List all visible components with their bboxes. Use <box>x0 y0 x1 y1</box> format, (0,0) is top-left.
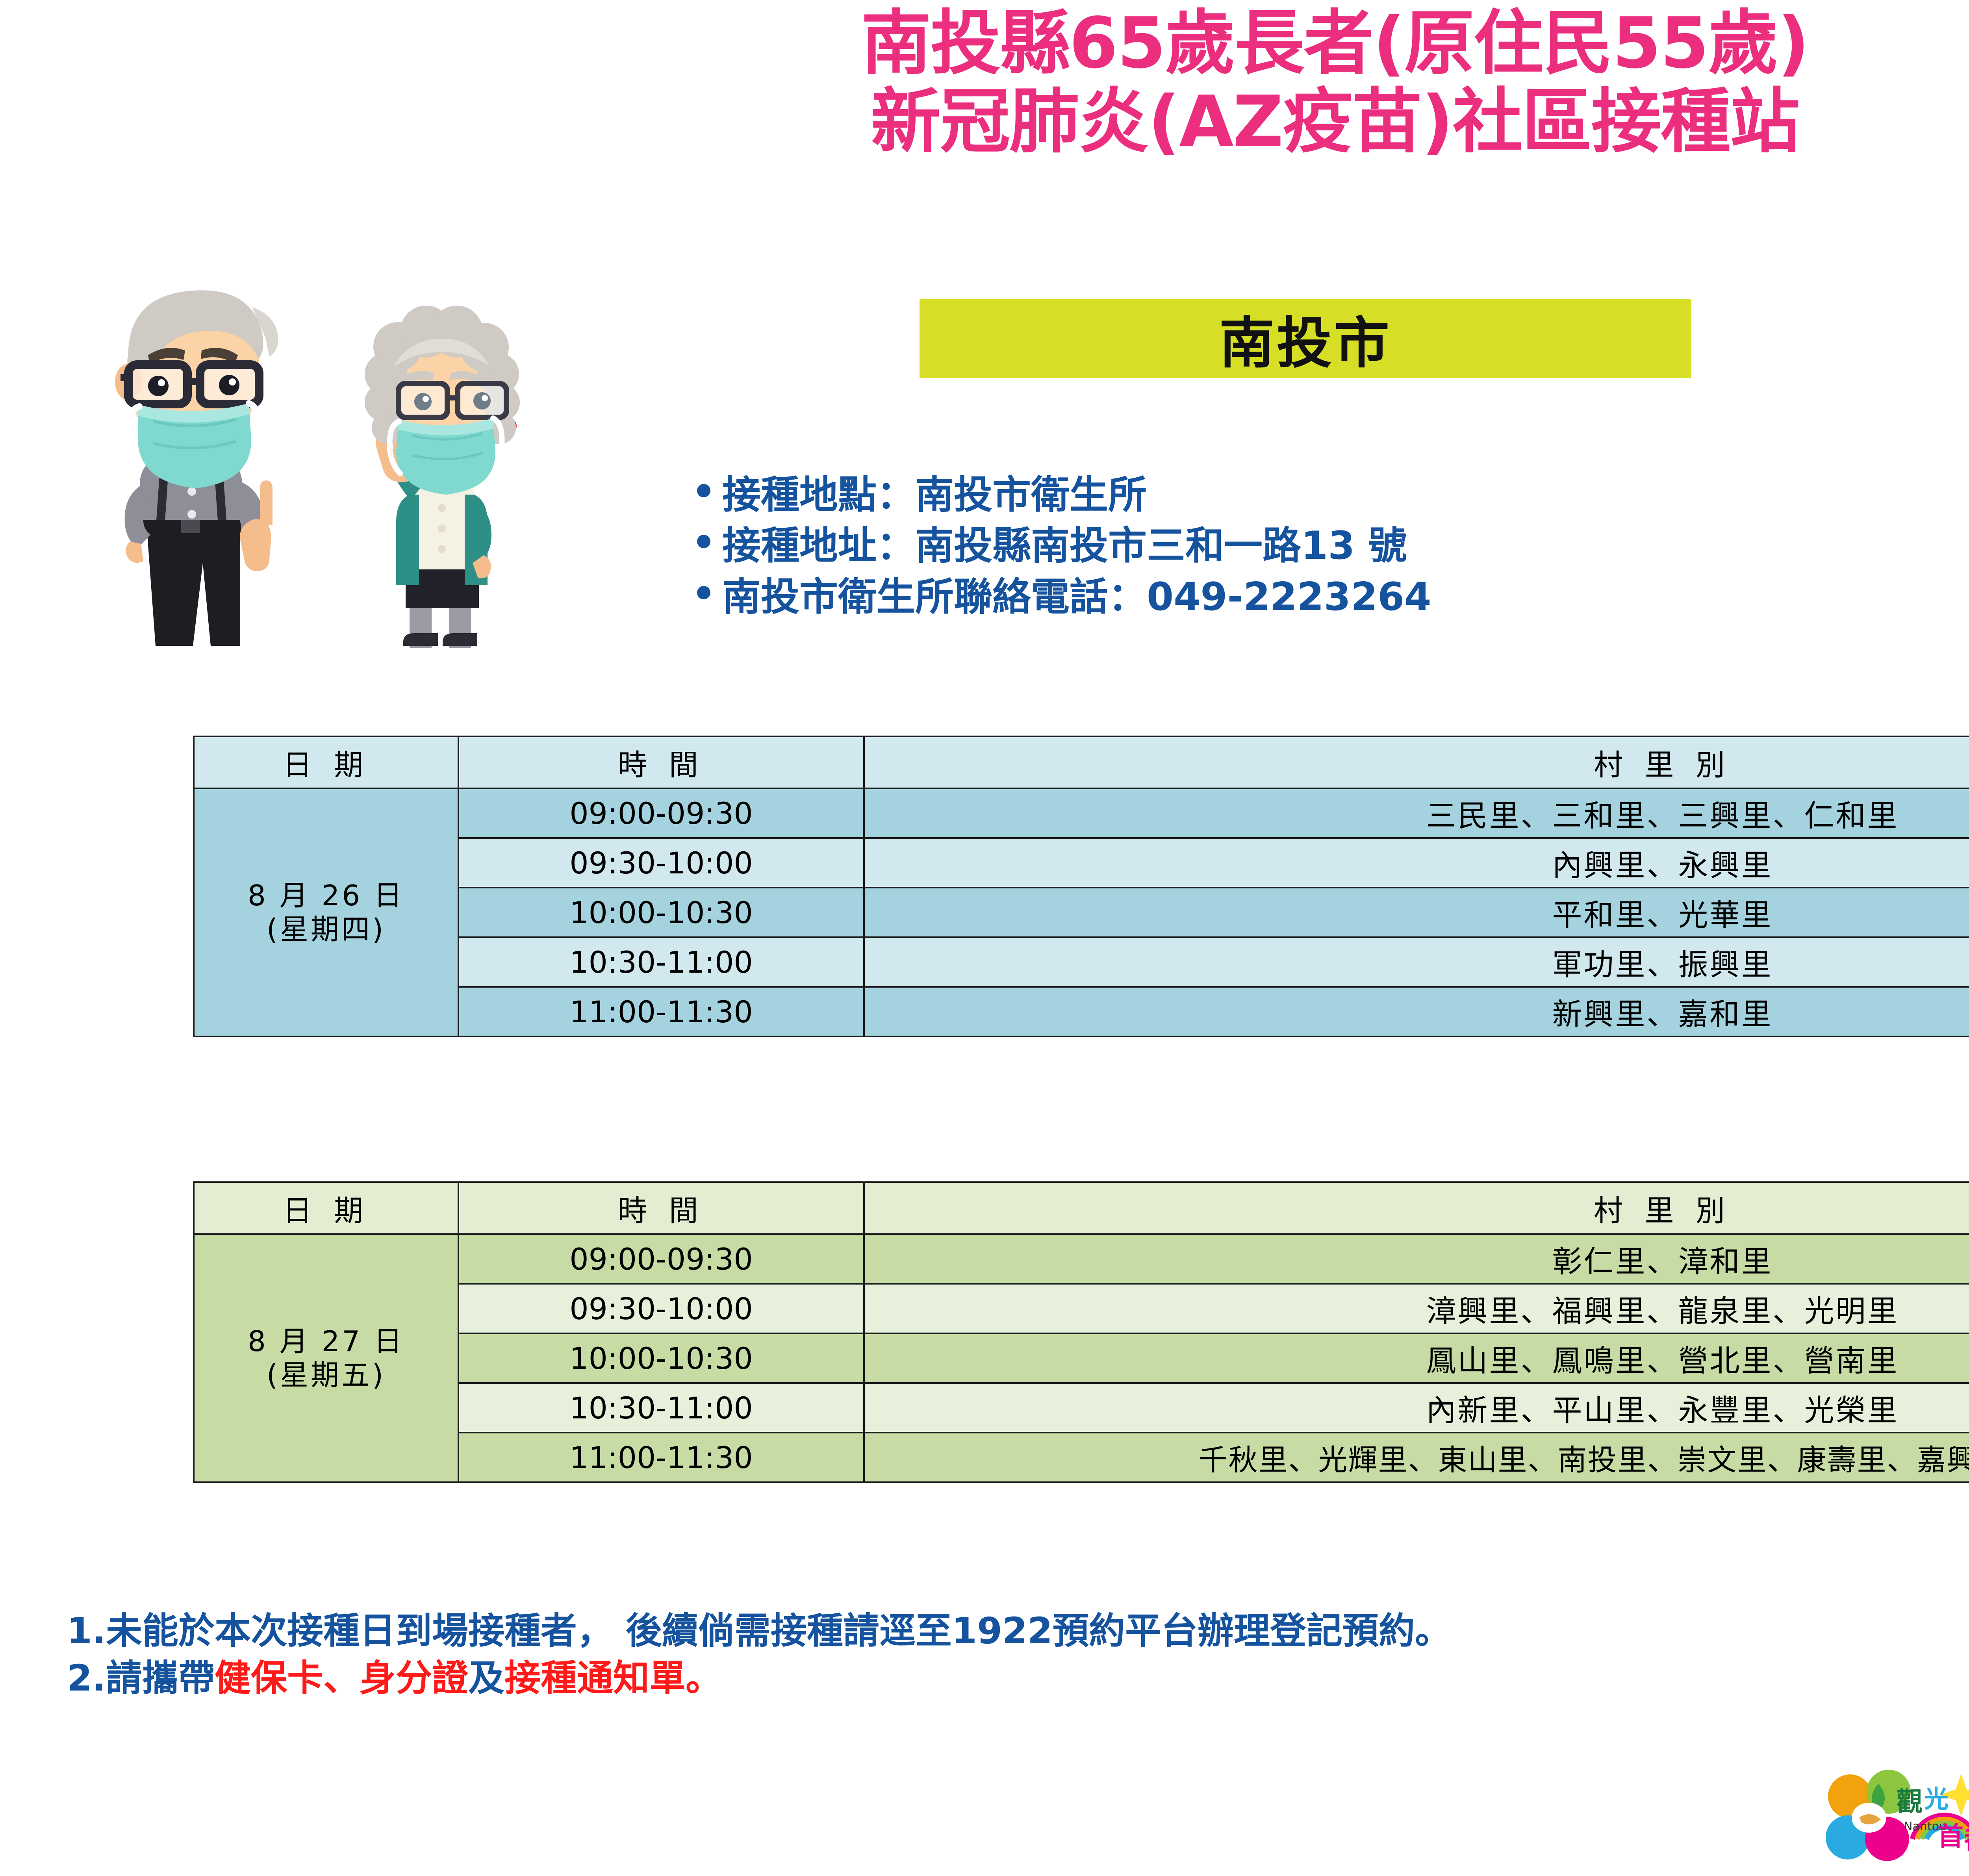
notice-2-highlight-docs: 健保卡、身分證 <box>215 1657 468 1699</box>
notice-2: 2.請攜帶健保卡、身分證及接種通知單。 <box>67 1655 1451 1702</box>
notice-2-prefix: 2.請攜帶 <box>67 1657 215 1699</box>
svg-text:光: 光 <box>1924 1785 1949 1813</box>
table-row: 11:00-11:30 千秋里、光輝里、東山里、南投里、崇文里、康壽里、嘉興里、… <box>194 1433 1969 1482</box>
col-header-date: 日 期 <box>194 736 458 788</box>
time-cell: 09:30-10:00 <box>458 1284 864 1333</box>
time-cell: 10:30-11:00 <box>458 1383 864 1433</box>
svg-text:首: 首 <box>1937 1821 1963 1852</box>
table-row: 10:30-11:00 內新里、平山里、永豐里、光榮里 <box>194 1383 1969 1433</box>
col-header-time: 時 間 <box>458 736 864 788</box>
page-title: 南投縣65歲長者(原住民55歲) 新冠肺炎(AZ疫苗)社區接種站 <box>465 4 1969 161</box>
village-cell: 彰仁里、漳和里 <box>864 1234 1969 1284</box>
notice-2-highlight-notice: 接種通知單。 <box>504 1657 722 1699</box>
village-cell: 鳳山里、鳳鳴里、營北里、營南里 <box>864 1333 1969 1383</box>
venue-info-list: 接種地點：南投市衛生所 接種地址：南投縣南投市三和一路13 號 南投市衛生所聯絡… <box>697 471 1431 623</box>
list-item: 接種地址：南投縣南投市三和一路13 號 <box>697 521 1431 571</box>
date-text: 8 月 26 日 <box>195 879 458 912</box>
title-line-1: 南投縣65歲長者(原住民55歲) <box>465 4 1969 82</box>
village-cell: 平和里、光華里 <box>864 888 1969 937</box>
venue-name: 接種地點：南投市衛生所 <box>722 471 1147 520</box>
time-cell: 09:00-09:30 <box>458 788 864 838</box>
table-row: 11:00-11:30 新興里、嘉和里 <box>194 987 1969 1036</box>
table-row: 10:00-10:30 平和里、光華里 <box>194 888 1969 937</box>
venue-address: 接種地址：南投縣南投市三和一路13 號 <box>722 521 1407 571</box>
notice-1: 1.未能於本次接種日到場接種者， 後續倘需接種請逕至1922預約平台辦理登記預約… <box>67 1607 1451 1655</box>
bullet-dot-icon <box>697 586 710 599</box>
date-text: 8 月 27 日 <box>195 1324 458 1358</box>
svg-text:都: 都 <box>1964 1824 1969 1855</box>
table-row: 09:30-10:00 漳興里、福興里、龍泉里、光明里 <box>194 1284 1969 1333</box>
time-cell: 09:00-09:30 <box>458 1234 864 1284</box>
date-cell: 8 月 27 日 (星期五) <box>194 1234 458 1482</box>
svg-text:觀: 觀 <box>1897 1787 1923 1817</box>
list-item: 南投市衛生所聯絡電話：049-2223264 <box>697 573 1431 622</box>
col-header-village: 村 里 別 <box>864 1182 1969 1234</box>
nantou-tourism-logo: 觀 光 Nantou 首 都 <box>1819 1760 1969 1874</box>
time-cell: 10:00-10:30 <box>458 1333 864 1383</box>
village-cell: 內新里、平山里、永豐里、光榮里 <box>864 1383 1969 1433</box>
village-cell: 新興里、嘉和里 <box>864 987 1969 1036</box>
weekday-text: (星期四) <box>195 912 458 946</box>
table-row: 10:00-10:30 鳳山里、鳳鳴里、營北里、營南里 <box>194 1333 1969 1383</box>
date-cell: 8 月 26 日 (星期四) <box>194 788 458 1036</box>
bullet-dot-icon <box>697 484 710 497</box>
grandpa-figure <box>115 290 278 646</box>
schedule-table-aug26: 日 期 時 間 村 里 別 8 月 26 日 (星期四) 09:00-09:30… <box>193 736 1969 1037</box>
table-header-row: 日 期 時 間 村 里 別 <box>194 736 1969 788</box>
time-cell: 11:00-11:30 <box>458 1433 864 1482</box>
col-header-village: 村 里 別 <box>864 736 1969 788</box>
venue-phone: 南投市衛生所聯絡電話：049-2223264 <box>722 573 1431 622</box>
village-cell: 漳興里、福興里、龍泉里、光明里 <box>864 1284 1969 1333</box>
village-cell: 軍功里、振興里 <box>864 937 1969 987</box>
bullet-dot-icon <box>697 535 710 548</box>
notice-list: 1.未能於本次接種日到場接種者， 後續倘需接種請逕至1922預約平台辦理登記預約… <box>67 1607 1451 1702</box>
city-banner: 南投市 <box>920 299 1691 378</box>
weekday-text: (星期五) <box>195 1358 458 1392</box>
list-item: 接種地點：南投市衛生所 <box>697 471 1431 520</box>
elderly-couple-illustration <box>55 209 559 658</box>
table-header-row: 日 期 時 間 村 里 別 <box>194 1182 1969 1234</box>
col-header-date: 日 期 <box>194 1182 458 1234</box>
table-row: 09:30-10:00 內興里、永興里 <box>194 838 1969 888</box>
col-header-time: 時 間 <box>458 1182 864 1234</box>
village-cell: 千秋里、光輝里、東山里、南投里、崇文里、康壽里、嘉興里、福山里 <box>864 1433 1969 1482</box>
grandma-figure <box>365 306 520 648</box>
city-label: 南投市 <box>1219 299 1392 378</box>
table-row: 8 月 27 日 (星期五) 09:00-09:30 彰仁里、漳和里 <box>194 1234 1969 1284</box>
time-cell: 11:00-11:30 <box>458 987 864 1036</box>
village-cell: 內興里、永興里 <box>864 838 1969 888</box>
time-cell: 09:30-10:00 <box>458 838 864 888</box>
schedule-table-aug27: 日 期 時 間 村 里 別 8 月 27 日 (星期五) 09:00-09:30… <box>193 1181 1969 1483</box>
time-cell: 10:30-11:00 <box>458 937 864 987</box>
table-row: 8 月 26 日 (星期四) 09:00-09:30 三民里、三和里、三興里、仁… <box>194 788 1969 838</box>
title-line-2: 新冠肺炎(AZ疫苗)社區接種站 <box>465 82 1969 161</box>
notice-2-conjunction: 及 <box>468 1657 504 1699</box>
time-cell: 10:00-10:30 <box>458 888 864 937</box>
table-row: 10:30-11:00 軍功里、振興里 <box>194 937 1969 987</box>
village-cell: 三民里、三和里、三興里、仁和里 <box>864 788 1969 838</box>
